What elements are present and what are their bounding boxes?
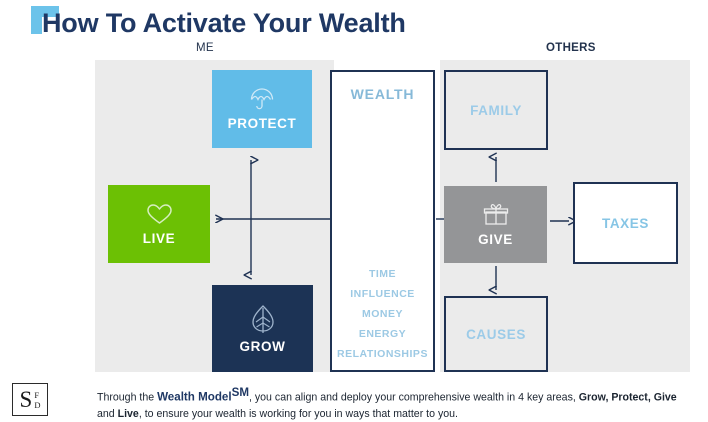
box-give-label: GIVE <box>478 232 513 247</box>
wealth-components-list: TIME INFLUENCE MONEY ENERGY RELATIONSHIP… <box>332 264 433 364</box>
logo-letter-f: F <box>34 390 40 400</box>
bracket-vertical-bar <box>31 6 42 34</box>
box-taxes-label: TAXES <box>602 216 649 231</box>
box-protect-label: PROTECT <box>228 116 297 131</box>
list-item: TIME <box>369 264 396 284</box>
footer-text-part-3: and <box>97 408 118 420</box>
footer-area-live: Live <box>118 408 139 420</box>
leaf-icon <box>250 304 276 334</box>
box-grow[interactable]: GROW <box>212 285 313 372</box>
sfd-logo: S F D <box>12 383 48 416</box>
box-give[interactable]: GIVE <box>444 186 547 263</box>
box-live[interactable]: LIVE <box>108 185 210 263</box>
box-causes-label: CAUSES <box>466 327 526 342</box>
logo-letter-d: D <box>34 400 40 410</box>
section-label-me: ME <box>196 42 214 54</box>
list-item: INFLUENCE <box>350 284 415 304</box>
footer-brand-name: Wealth Model <box>157 391 232 404</box>
box-causes[interactable]: CAUSES <box>444 296 548 372</box>
box-family[interactable]: FAMILY <box>444 70 548 150</box>
list-item: ENERGY <box>359 324 406 344</box>
box-grow-label: GROW <box>240 339 286 354</box>
footer-divider <box>0 376 708 377</box>
box-wealth[interactable]: WEALTH TIME INFLUENCE MONEY ENERGY RELAT… <box>330 70 435 372</box>
box-family-label: FAMILY <box>470 103 522 118</box>
logo-letter-s: S <box>20 388 33 411</box>
box-live-label: LIVE <box>143 231 175 246</box>
wealth-title: WEALTH <box>351 86 415 102</box>
logo-letters-fd: F D <box>34 390 40 410</box>
list-item: RELATIONSHIPS <box>337 344 428 364</box>
section-label-others: OTHERS <box>546 42 596 54</box>
footer-brand-superscript: SM <box>232 386 249 399</box>
footer-text-part-2: , you can align and deploy your comprehe… <box>249 392 579 404</box>
diagram-canvas: How To Activate Your Wealth ME OTHERS <box>0 0 708 421</box>
footer-description: Through the Wealth ModelSM, you can alig… <box>97 385 692 422</box>
box-taxes[interactable]: TAXES <box>573 182 678 264</box>
heart-icon <box>146 203 173 226</box>
page-title: How To Activate Your Wealth <box>42 8 406 39</box>
footer-areas-list: Grow, Protect, Give <box>579 392 677 404</box>
footer-text-part-1: Through the <box>97 392 157 404</box>
footer-text-part-4: , to ensure your wealth is working for y… <box>139 408 458 420</box>
gift-icon <box>482 202 510 227</box>
list-item: MONEY <box>362 304 403 324</box>
umbrella-icon <box>249 87 275 111</box>
box-protect[interactable]: PROTECT <box>212 70 312 148</box>
